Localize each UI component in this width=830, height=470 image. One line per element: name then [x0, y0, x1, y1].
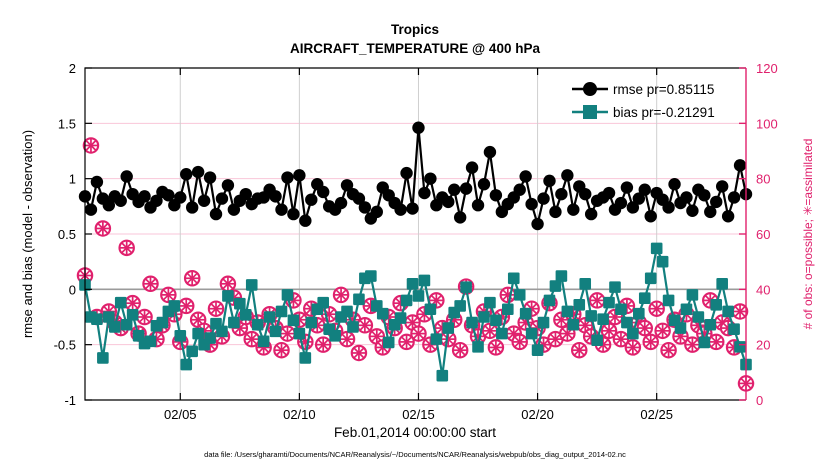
obs-count-marker [84, 138, 98, 152]
rmse-marker [120, 170, 132, 182]
bias-marker [246, 279, 258, 291]
rmse-marker [466, 161, 478, 173]
obs-count-marker [733, 304, 747, 318]
rmse-marker [478, 178, 490, 190]
bias-marker [169, 300, 181, 312]
bias-marker [436, 370, 448, 382]
rmse-marker [454, 211, 466, 223]
bias-marker [401, 295, 413, 307]
y-tick-label-right: 0 [756, 393, 763, 408]
bias-marker [472, 341, 484, 353]
rmse-marker [222, 179, 234, 191]
rmse-marker [460, 182, 472, 194]
bias-marker [562, 306, 574, 318]
bias-marker [633, 308, 645, 320]
obs-count-marker [572, 343, 586, 357]
rmse-marker [448, 184, 460, 196]
bias-marker [651, 243, 663, 255]
rmse-marker [210, 208, 222, 220]
rmse-marker [442, 196, 454, 208]
rmse-marker [579, 188, 591, 200]
bias-marker [365, 270, 377, 282]
bias-marker [305, 317, 317, 329]
obs-count-marker [685, 337, 699, 351]
bias-marker [234, 298, 246, 310]
bias-marker [341, 306, 353, 318]
bias-marker [663, 295, 675, 307]
bias-marker [657, 256, 669, 268]
obs-count-marker [119, 241, 133, 255]
obs-count-marker [179, 299, 193, 313]
y-tick-label-right: 40 [756, 282, 770, 297]
bias-marker [180, 359, 192, 371]
rmse-marker [543, 175, 555, 187]
rmse-marker [335, 197, 347, 209]
rmse-marker [305, 193, 317, 205]
rmse-marker [275, 203, 287, 215]
bias-marker [353, 293, 365, 305]
obs-count-marker [137, 310, 151, 324]
rmse-marker [514, 184, 526, 196]
obs-count-marker [352, 346, 366, 360]
bias-marker [121, 319, 133, 331]
bias-marker [704, 319, 716, 331]
obs-count-marker [340, 332, 354, 346]
bias-marker [568, 319, 580, 331]
bias-marker [490, 315, 502, 327]
bias-marker [264, 311, 276, 323]
obs-count-marker [489, 340, 503, 354]
bias-marker [174, 330, 186, 342]
bias-marker [97, 352, 109, 364]
rmse-marker [561, 169, 573, 181]
y-tick-label-left: 2 [69, 61, 76, 76]
rmse-marker [484, 146, 496, 158]
y-axis-label-left: rmse and bias (model - observation) [20, 130, 35, 338]
obs-count-marker [125, 296, 139, 310]
bias-marker [550, 280, 562, 292]
rmse-marker [180, 168, 192, 180]
obs-count-marker [644, 335, 658, 349]
rmse-marker [424, 172, 436, 184]
obs-count-marker [411, 326, 425, 340]
bias-marker [544, 295, 556, 307]
bias-marker [514, 289, 526, 301]
rmse-marker [728, 191, 740, 203]
y-tick-label-right: 20 [756, 338, 770, 353]
obs-count-marker [590, 293, 604, 307]
bias-marker [383, 337, 395, 349]
bias-marker [716, 278, 728, 290]
bias-marker [127, 309, 139, 321]
bias-marker [186, 346, 198, 358]
x-tick-label: 02/15 [402, 407, 435, 422]
bias-marker [579, 278, 591, 290]
bias-marker [621, 317, 633, 329]
y-tick-label-right: 60 [756, 227, 770, 242]
bias-marker [216, 326, 228, 338]
y-tick-label-right: 80 [756, 172, 770, 187]
bias-marker [639, 292, 651, 304]
bias-marker [413, 290, 425, 302]
y-tick-label-left: 1.5 [58, 116, 76, 131]
bias-marker [329, 330, 341, 342]
obs-count-marker [143, 277, 157, 291]
bias-marker [484, 297, 496, 309]
rmse-marker [639, 184, 651, 196]
bias-marker [478, 311, 490, 323]
rmse-marker [490, 189, 502, 201]
bias-marker [615, 303, 627, 315]
bias-marker [252, 319, 264, 331]
bias-marker [204, 332, 216, 344]
y-axis-label-right: # of obs: o=possible; ✳=assimilated [801, 139, 815, 330]
bias-marker [734, 341, 746, 353]
rmse-marker [585, 208, 597, 220]
bias-marker [300, 352, 312, 364]
rmse-marker [412, 122, 424, 134]
bias-marker [419, 275, 431, 287]
bias-marker [222, 290, 234, 302]
bias-marker [157, 317, 169, 329]
rmse-marker [418, 187, 430, 199]
rmse-marker [722, 210, 734, 222]
bias-marker [627, 328, 639, 340]
rmse-marker [710, 196, 722, 208]
bias-marker [591, 334, 603, 346]
bias-marker [699, 337, 711, 349]
rmse-marker [287, 208, 299, 220]
y-tick-label-left: -1 [64, 393, 76, 408]
bias-marker [502, 303, 514, 315]
rmse-marker [91, 176, 103, 188]
rmse-marker [531, 218, 543, 230]
bias-marker [526, 328, 538, 340]
obs-count-marker [501, 288, 515, 302]
bias-marker [377, 308, 389, 320]
bias-marker [192, 328, 204, 340]
bias-marker [317, 297, 329, 309]
obs-count-marker [221, 277, 235, 291]
bias-marker [294, 328, 306, 340]
bias-marker [109, 321, 121, 333]
rmse-marker [472, 199, 484, 211]
rmse-marker [400, 167, 412, 179]
bias-marker [270, 326, 282, 338]
rmse-marker [204, 171, 216, 183]
bias-marker [240, 309, 252, 321]
obs-diag-figure: Tropics AIRCRAFT_TEMPERATURE @ 400 hPa -… [0, 0, 830, 470]
bias-marker [395, 312, 407, 324]
legend-rmse-marker [583, 82, 597, 96]
bias-marker [609, 281, 621, 293]
rmse-marker [198, 195, 210, 207]
rmse-marker [406, 202, 418, 214]
rmse-marker [317, 186, 329, 198]
legend-rmse-label: rmse pr=0.85115 [613, 82, 714, 97]
rmse-marker [299, 215, 311, 227]
bias-marker [145, 336, 157, 348]
rmse-marker [359, 201, 371, 213]
bias-marker [258, 336, 270, 348]
rmse-marker [525, 198, 537, 210]
rmse-marker [668, 178, 680, 190]
obs-count-marker [185, 271, 199, 285]
bias-marker [508, 272, 520, 284]
obs-count-marker [280, 326, 294, 340]
y-tick-label-left: -0.5 [54, 338, 76, 353]
bias-marker [282, 289, 294, 301]
obs-count-marker [709, 335, 723, 349]
bias-marker [538, 317, 550, 329]
bias-marker [728, 323, 740, 335]
bias-marker [425, 303, 437, 315]
x-axis-label: Feb.01,2014 00:00:00 start [334, 425, 496, 440]
bias-marker [347, 321, 359, 333]
bias-marker [91, 313, 103, 325]
bias-marker [532, 344, 544, 356]
rmse-marker [85, 203, 97, 215]
bias-marker [431, 333, 443, 345]
rmse-marker [192, 166, 204, 178]
bias-marker [603, 297, 615, 309]
bias-marker [520, 308, 532, 320]
rmse-marker [394, 203, 406, 215]
rmse-marker [115, 195, 127, 207]
obs-count-marker [96, 221, 110, 235]
bias-marker [556, 270, 568, 282]
obs-count-marker [626, 340, 640, 354]
obs-count-marker [453, 343, 467, 357]
y-tick-label-left: 0.5 [58, 227, 76, 242]
y-tick-label-left: 1 [69, 172, 76, 187]
rmse-marker [686, 205, 698, 217]
rmse-marker [555, 188, 567, 200]
rmse-marker [645, 210, 657, 222]
obs-count-marker [334, 288, 348, 302]
bias-marker [681, 303, 693, 315]
bias-marker [454, 300, 466, 312]
obs-count-marker [161, 288, 175, 302]
rmse-marker [281, 171, 293, 183]
rmse-marker [621, 181, 633, 193]
obs-count-marker [316, 337, 330, 351]
rmse-marker [269, 190, 281, 202]
bias-marker [276, 306, 288, 318]
bias-marker [597, 313, 609, 325]
legend-bias-marker [583, 105, 597, 119]
obs-count-marker [209, 302, 223, 316]
rmse-marker [615, 197, 627, 209]
rmse-marker [371, 206, 383, 218]
chart-title-line1: Tropics [391, 22, 439, 37]
bias-marker [710, 299, 722, 311]
rmse-marker [567, 203, 579, 215]
x-tick-label: 02/25 [640, 407, 673, 422]
bias-marker [645, 272, 657, 284]
bias-marker [585, 310, 597, 322]
rmse-marker [716, 180, 728, 192]
legend-bias-label: bias pr=-0.21291 [613, 105, 715, 120]
bias-marker [442, 322, 454, 334]
rmse-marker [549, 206, 561, 218]
x-tick-label: 02/05 [164, 407, 197, 422]
bias-marker [573, 299, 585, 311]
obs-count-marker [655, 324, 669, 338]
obs-count-marker [358, 318, 372, 332]
bias-marker [687, 289, 699, 301]
obs-count-marker [661, 343, 675, 357]
bias-marker [466, 317, 478, 329]
bias-marker [722, 306, 734, 318]
rmse-marker [698, 189, 710, 201]
rmse-marker [186, 201, 198, 213]
rmse-marker [138, 190, 150, 202]
rmse-marker [734, 159, 746, 171]
obs-count-marker [638, 321, 652, 335]
y-tick-label-right: 100 [756, 116, 778, 131]
rmse-marker [216, 192, 228, 204]
bias-marker [103, 311, 115, 323]
x-tick-label: 02/20 [521, 407, 554, 422]
bias-marker [693, 311, 705, 323]
bias-marker [115, 297, 127, 309]
rmse-marker [680, 191, 692, 203]
obs-count-marker [513, 335, 527, 349]
y-tick-label-left: 0 [69, 282, 76, 297]
obs-count-marker [274, 343, 288, 357]
rmse-marker [662, 201, 674, 213]
bias-marker [288, 315, 300, 327]
rmse-marker [293, 169, 305, 181]
bias-marker [228, 317, 240, 329]
rmse-marker [603, 187, 615, 199]
rmse-marker [537, 192, 549, 204]
y-tick-label-right: 120 [756, 61, 778, 76]
obs-count-marker [649, 302, 663, 316]
chart-title-line2: AIRCRAFT_TEMPERATURE @ 400 hPa [290, 41, 540, 56]
bias-marker [407, 278, 419, 290]
rmse-marker [519, 170, 531, 182]
bias-marker [675, 322, 687, 334]
bias-marker [460, 281, 472, 293]
rmse-marker [174, 191, 186, 203]
data-file-footer: data file: /Users/gharamti/Documents/NCA… [204, 450, 626, 459]
bias-marker [496, 328, 508, 340]
x-tick-label: 02/10 [283, 407, 316, 422]
